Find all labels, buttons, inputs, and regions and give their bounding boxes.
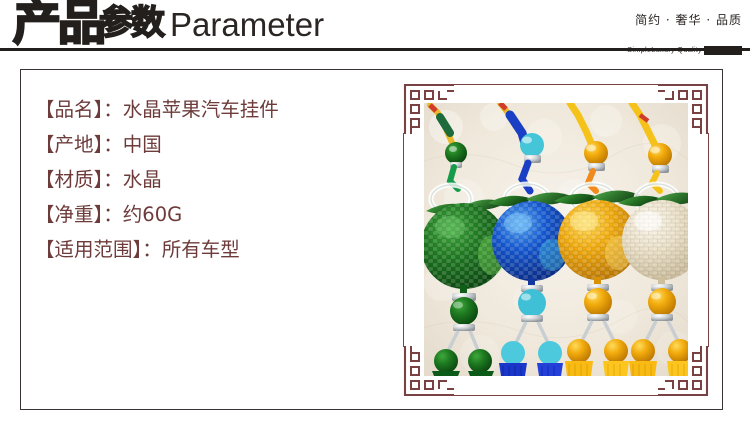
spec-label: 【适用范围】 — [35, 238, 142, 261]
spec-value: 约60G — [123, 203, 182, 226]
spec-separator: ： — [103, 98, 123, 121]
spec-value: 水晶 — [123, 168, 162, 191]
ornament-rule-right — [708, 133, 709, 347]
spec-row-origin: 【产地】：中国 — [35, 127, 375, 162]
product-spec-list: 【品名】：水晶苹果汽车挂件 【产地】：中国 【材质】：水晶 【净重】：约60G … — [35, 92, 375, 267]
spec-value: 所有车型 — [162, 238, 240, 261]
ornament-rule-bottom — [452, 395, 660, 396]
content-frame: 【品名】：水晶苹果汽车挂件 【产地】：中国 【材质】：水晶 【净重】：约60G … — [20, 69, 723, 410]
header-divider-rule — [0, 48, 750, 51]
spec-row-product-name: 【品名】：水晶苹果汽车挂件 — [35, 92, 375, 127]
spec-separator: ： — [142, 238, 162, 261]
spec-separator: ： — [103, 133, 123, 156]
page-header: 产品 参数 Parameter 简约 · 奢华 · 品质 SimpleLuxur… — [0, 0, 750, 56]
spec-label: 【产地】 — [35, 133, 103, 156]
page-title-en: Parameter — [170, 1, 324, 49]
spec-label: 【材质】 — [35, 168, 103, 191]
spec-label: 【净重】 — [35, 203, 103, 226]
spec-row-net-weight: 【净重】：约60G — [35, 197, 375, 232]
spec-value: 水晶苹果汽车挂件 — [123, 98, 279, 121]
ornament-rule-top — [452, 84, 660, 85]
page-title: 产品 参数 Parameter — [13, 0, 324, 49]
spec-row-material: 【材质】：水晶 — [35, 162, 375, 197]
product-parameter-page: 产品 参数 Parameter 简约 · 奢华 · 品质 SimpleLuxur… — [0, 0, 750, 440]
page-title-cn-primary: 产品 — [13, 0, 103, 49]
product-photo — [424, 103, 688, 376]
spec-value: 中国 — [123, 133, 162, 156]
product-photo-panel: 四款水晶苹果汽车挂件：绿色、蓝色、黄色、米白色，配绿叶、串珠与丝穗 — [396, 77, 716, 403]
page-title-cn-secondary: 参数 — [99, 0, 163, 48]
spec-label: 【品名】 — [35, 98, 103, 121]
brand-slogan-cn: 简约 · 奢华 · 品质 — [627, 12, 742, 28]
spec-separator: ： — [103, 168, 123, 191]
spec-separator: ： — [103, 203, 123, 226]
ornament-rule-left — [403, 133, 404, 347]
spec-row-application-scope: 【适用范围】：所有车型 — [35, 232, 375, 267]
